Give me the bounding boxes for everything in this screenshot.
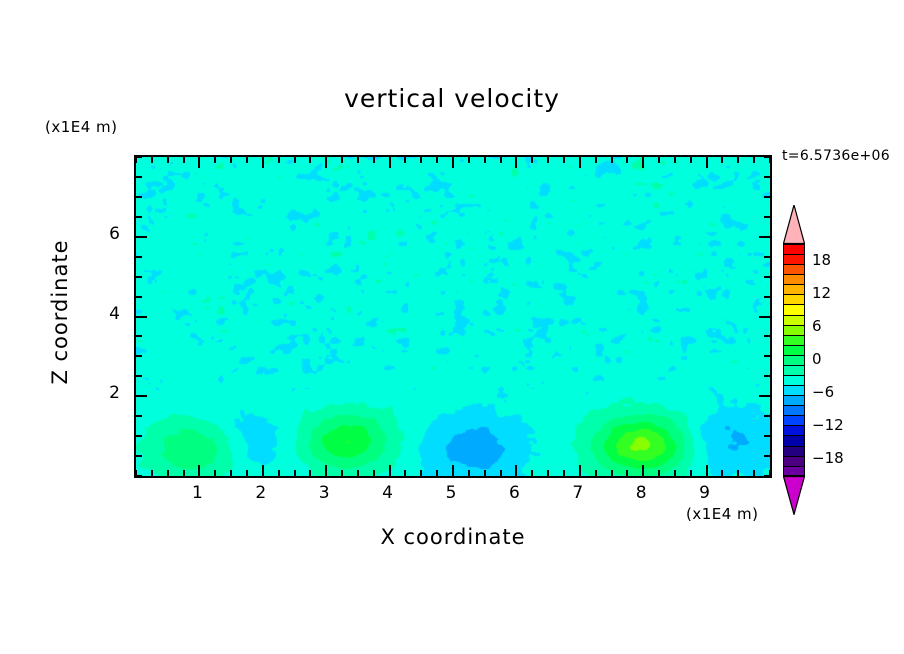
y-tick <box>136 335 142 337</box>
x-tick <box>753 470 755 476</box>
y-tick <box>759 316 770 318</box>
y-tick-label: 2 <box>94 383 120 403</box>
colorbar-band <box>783 385 805 395</box>
colorbar-under-cap-outline <box>783 476 805 515</box>
x-tick <box>642 465 644 476</box>
x-tick-label: 4 <box>368 483 408 503</box>
x-tick <box>198 465 200 476</box>
colorbar-band <box>783 425 805 435</box>
x-axis-title: X coordinate <box>134 525 772 549</box>
x-tick <box>484 470 486 476</box>
x-tick <box>452 157 454 168</box>
x-tick <box>611 470 613 476</box>
y-tick <box>764 355 770 357</box>
x-tick <box>579 465 581 476</box>
y-tick <box>764 375 770 377</box>
page-title: vertical velocity <box>0 84 904 113</box>
colorbar-band <box>783 456 805 466</box>
x-tick <box>547 157 549 163</box>
colorbar-tick-label: 6 <box>812 317 822 335</box>
x-tick <box>531 470 533 476</box>
x-tick <box>278 157 280 163</box>
y-tick <box>764 435 770 437</box>
y-tick <box>136 475 142 477</box>
colorbar-band <box>783 375 805 385</box>
y-axis-title: Z coordinate <box>48 222 72 402</box>
x-tick <box>262 157 264 168</box>
x-tick <box>309 470 311 476</box>
y-tick <box>764 475 770 477</box>
x-tick <box>452 465 454 476</box>
y-tick <box>136 375 142 377</box>
x-tick <box>214 470 216 476</box>
x-tick <box>357 470 359 476</box>
x-tick-label: 3 <box>304 483 344 503</box>
x-tick <box>420 470 422 476</box>
colorbar-band <box>783 254 805 264</box>
x-tick <box>753 157 755 163</box>
x-tick <box>721 470 723 476</box>
x-tick-label: 7 <box>558 483 598 503</box>
x-tick <box>737 157 739 163</box>
colorbar-band <box>783 355 805 365</box>
y-tick <box>136 156 142 158</box>
y-tick <box>136 395 147 397</box>
y-tick <box>764 415 770 417</box>
x-tick <box>500 470 502 476</box>
x-tick <box>420 157 422 163</box>
y-tick <box>136 296 142 298</box>
x-tick <box>436 470 438 476</box>
x-tick-label: 9 <box>685 483 725 503</box>
colorbar-band <box>783 405 805 415</box>
colorbar-over-cap-outline <box>783 205 805 244</box>
x-tick <box>246 470 248 476</box>
colorbar-band <box>783 244 805 254</box>
x-tick <box>626 157 628 163</box>
y-tick <box>764 196 770 198</box>
x-tick <box>674 157 676 163</box>
colorbar-band <box>783 284 805 294</box>
x-tick <box>183 470 185 476</box>
x-tick <box>674 470 676 476</box>
y-tick <box>759 395 770 397</box>
x-tick <box>151 470 153 476</box>
x-tick <box>389 465 391 476</box>
y-axis-unit-label: (x1E4 m) <box>45 118 118 136</box>
x-tick <box>468 470 470 476</box>
x-tick <box>642 157 644 168</box>
x-tick <box>325 157 327 168</box>
y-tick <box>136 256 142 258</box>
x-axis-unit-label: (x1E4 m) <box>686 505 759 523</box>
x-tick <box>484 157 486 163</box>
colorbar-band <box>783 466 805 476</box>
x-tick <box>531 157 533 163</box>
x-tick <box>214 157 216 163</box>
y-tick <box>764 335 770 337</box>
x-tick <box>341 470 343 476</box>
x-tick-label: 6 <box>494 483 534 503</box>
y-tick <box>136 236 147 238</box>
y-tick <box>136 415 142 417</box>
colorbar-tick-label: −6 <box>812 383 834 401</box>
colorbar-band <box>783 325 805 335</box>
y-tick <box>759 236 770 238</box>
x-tick <box>626 470 628 476</box>
x-tick <box>198 157 200 168</box>
x-tick <box>151 157 153 163</box>
colorbar-tick-label: −12 <box>812 416 844 434</box>
x-tick <box>500 157 502 163</box>
colorbar-band <box>783 395 805 405</box>
colorbar-tick-label: 0 <box>812 350 822 368</box>
x-tick <box>230 157 232 163</box>
x-tick <box>611 157 613 163</box>
y-tick-label: 4 <box>94 304 120 324</box>
y-tick <box>136 216 142 218</box>
x-tick <box>658 157 660 163</box>
colorbar-band <box>783 264 805 274</box>
y-tick <box>764 156 770 158</box>
colorbar-band <box>783 315 805 325</box>
colorbar-tick-label: 12 <box>812 284 831 302</box>
colorbar-band <box>783 365 805 375</box>
colorbar-band <box>783 335 805 345</box>
contour-plot-area <box>134 155 772 478</box>
x-tick <box>278 470 280 476</box>
x-tick <box>373 157 375 163</box>
x-tick <box>167 157 169 163</box>
velocity-field-image <box>136 157 770 476</box>
x-tick <box>595 157 597 163</box>
x-tick <box>341 157 343 163</box>
x-tick <box>737 470 739 476</box>
x-tick <box>389 157 391 168</box>
x-tick <box>468 157 470 163</box>
x-tick-label: 2 <box>241 483 281 503</box>
x-tick <box>436 157 438 163</box>
x-tick <box>547 470 549 476</box>
x-tick <box>595 470 597 476</box>
x-tick <box>325 465 327 476</box>
colorbar-band <box>783 446 805 456</box>
y-tick-label: 6 <box>94 224 120 244</box>
colorbar-band <box>783 304 805 314</box>
x-tick-label: 8 <box>621 483 661 503</box>
y-tick <box>136 355 142 357</box>
x-tick <box>167 470 169 476</box>
x-tick <box>563 470 565 476</box>
y-tick <box>136 196 142 198</box>
y-tick <box>136 455 142 457</box>
x-tick <box>721 157 723 163</box>
x-tick <box>690 157 692 163</box>
y-tick <box>764 455 770 457</box>
x-tick <box>294 470 296 476</box>
colorbar-band <box>783 294 805 304</box>
x-tick <box>706 157 708 168</box>
x-tick <box>309 157 311 163</box>
y-tick <box>136 435 142 437</box>
y-tick <box>136 316 147 318</box>
colorbar-band <box>783 435 805 445</box>
colorbar-tick-label: 18 <box>812 251 831 269</box>
x-tick <box>579 157 581 168</box>
x-tick <box>404 470 406 476</box>
y-tick <box>764 276 770 278</box>
x-tick <box>690 470 692 476</box>
x-tick <box>357 157 359 163</box>
y-tick <box>764 296 770 298</box>
x-tick <box>658 470 660 476</box>
x-tick <box>515 157 517 168</box>
x-tick <box>294 157 296 163</box>
x-tick <box>373 470 375 476</box>
x-tick-label: 1 <box>177 483 217 503</box>
x-tick <box>515 465 517 476</box>
time-annotation: t=6.5736e+06 <box>782 148 890 164</box>
colorbar-band <box>783 345 805 355</box>
colorbar-band <box>783 415 805 425</box>
x-tick <box>183 157 185 163</box>
x-tick <box>563 157 565 163</box>
y-tick <box>764 176 770 178</box>
x-tick <box>706 465 708 476</box>
colorbar[interactable] <box>783 244 805 476</box>
y-tick <box>764 216 770 218</box>
x-tick <box>230 470 232 476</box>
x-tick <box>404 157 406 163</box>
x-tick <box>246 157 248 163</box>
x-tick-label: 5 <box>431 483 471 503</box>
y-tick <box>136 176 142 178</box>
colorbar-tick-label: −18 <box>812 449 844 467</box>
y-tick <box>136 276 142 278</box>
x-tick <box>262 465 264 476</box>
colorbar-band <box>783 274 805 284</box>
y-tick <box>764 256 770 258</box>
